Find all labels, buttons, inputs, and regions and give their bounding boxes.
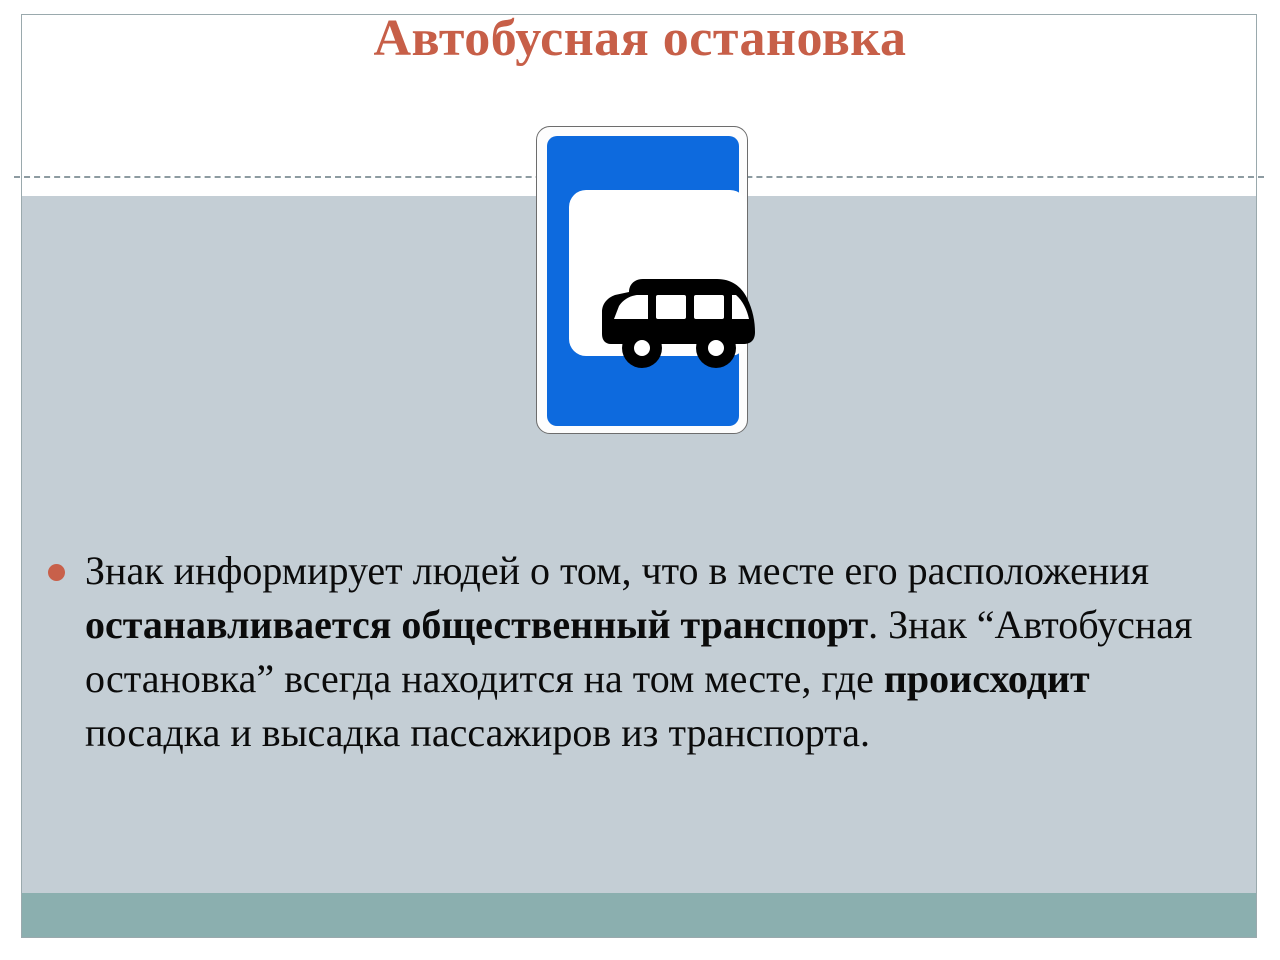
bus-stop-road-sign [536,126,748,434]
bullet-marker-icon [48,564,65,581]
sign-blue-field [547,136,739,426]
body-paragraph: Знак информирует людей о том, что в мест… [85,544,1218,760]
bullet-list-item: Знак информирует людей о том, что в мест… [48,544,1218,760]
slide-footer-band [22,893,1256,937]
presentation-slide: Автобусная остановка [0,0,1280,960]
sign-outer-plate [536,126,748,434]
text-run: посадка и высадка пассажиров из транспор… [85,710,870,755]
sign-white-panel [569,190,747,356]
text-run: Знак информирует людей о том, что в мест… [85,548,1149,593]
slide-body-text: Знак информирует людей о том, что в мест… [48,544,1218,760]
emphasized-text-run: происходит [884,656,1090,701]
emphasized-text-run: останавливается общественный транспорт [85,602,868,647]
slide-title: Автобусная остановка [0,8,1280,70]
bus-icon [599,270,759,374]
